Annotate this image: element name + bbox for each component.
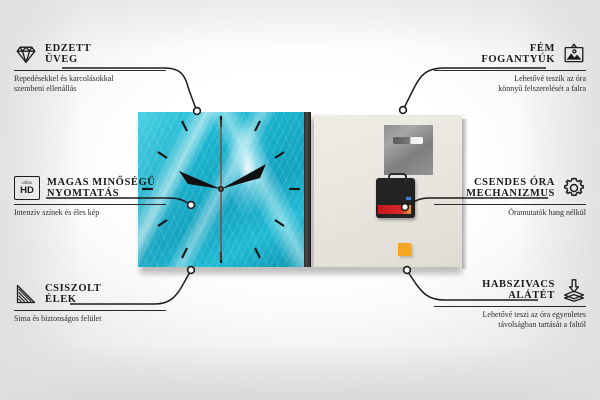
diamond-icon	[14, 42, 38, 66]
feature-divider	[434, 306, 586, 307]
product-photo	[138, 112, 462, 270]
feature-title: FÉM FOGANTYÚK	[481, 43, 555, 65]
gear-icon	[562, 176, 586, 200]
ultra-hd-badge-icon: ultra HD	[14, 176, 40, 200]
feature-divider	[434, 70, 586, 71]
picture-hanger-icon	[562, 42, 586, 66]
feature-divider	[14, 70, 166, 71]
feature-metal-handles: FÉM FOGANTYÚK Lehetővé teszik az óra kön…	[434, 42, 586, 95]
feature-description: Repedésekkel és karcolásokkal szembeni e…	[14, 74, 166, 95]
infographic-canvas: EDZETT ÜVEG Repedésekkel és karcolásokka…	[0, 0, 600, 400]
bevelled-edge-icon	[14, 282, 38, 306]
feature-title: CSENDES ÓRA MECHANIZMUS	[466, 177, 555, 199]
mechanism-label	[378, 205, 411, 214]
feature-description: Lehetővé teszi az óra egyenletes távolsá…	[434, 310, 586, 331]
feature-polished-edges: CSISZOLT ÉLEK Sima és biztonságos felüle…	[14, 282, 166, 324]
mechanism-hanging-loop	[388, 173, 407, 183]
feature-title: CSISZOLT ÉLEK	[45, 283, 101, 305]
feature-description: Sima és biztonságos felület	[14, 314, 166, 324]
feature-description: Intenzív színek és éles kép	[14, 208, 166, 218]
feature-divider	[14, 310, 166, 311]
feature-foam-pad: HABSZIVACS ALÁTÉT Lehetővé teszi az óra …	[434, 278, 586, 331]
glass-edge	[304, 112, 311, 267]
ultra-hd-badge-main-text: HD	[20, 186, 34, 196]
feature-description: Lehetővé teszik az óra könnyű felszerelé…	[434, 74, 586, 95]
feature-divider	[14, 204, 166, 205]
feature-title: EDZETT ÜVEG	[45, 43, 91, 65]
feature-title: MAGAS MINŐSÉGŰ NYOMTATÁS	[47, 177, 155, 199]
orange-foam-pad	[398, 243, 411, 256]
mechanism-detail	[406, 197, 411, 200]
feature-title: HABSZIVACS ALÁTÉT	[482, 279, 555, 301]
clock-mechanism	[376, 178, 415, 218]
hanger-slot	[393, 137, 423, 144]
arrow-into-layers-icon	[562, 278, 586, 302]
feature-description: Óramutatók hang nélkül	[434, 208, 586, 218]
feature-silent-mechanism: CSENDES ÓRA MECHANIZMUS Óramutatók hang …	[434, 176, 586, 218]
feature-divider	[434, 204, 586, 205]
metal-hanger-plate	[384, 125, 433, 175]
feature-high-quality-print: ultra HD MAGAS MINŐSÉGŰ NYOMTATÁS Intenz…	[14, 176, 166, 218]
feature-tempered-glass: EDZETT ÜVEG Repedésekkel és karcolásokka…	[14, 42, 166, 95]
